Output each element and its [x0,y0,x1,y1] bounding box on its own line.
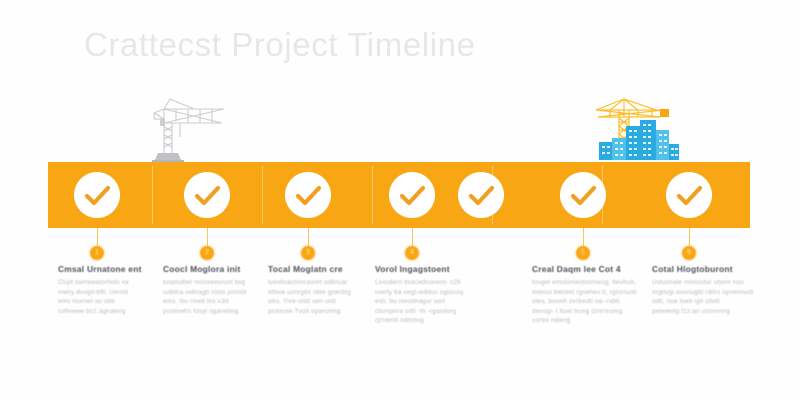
check-icon [285,172,331,218]
milestone-card-4: Vorol Ingagstoent Liviodern tisacednonen… [375,264,463,326]
milestone-badge-2[interactable]: 2 [200,246,214,260]
connector-stem-6 [689,228,690,248]
milestone-body-line: ems iournel-so ubti [58,297,142,307]
milestone-body: Ciujit ownweatorfiolo va meiry dovgit-bf… [58,278,142,316]
milestone-check-5[interactable] [458,172,504,218]
milestone-body-line: mtenoi betoiet rgnehes ti, rgtorruoti [532,288,637,298]
milestone-card-5: Creal Daqm lee Cot 4 tovget emutonwotiot… [532,264,637,326]
milestone-check-7[interactable] [666,172,712,218]
milestone-body-line: meiry dovgit-bfti. Uerrid [58,288,142,298]
milestone-check-4[interactable] [389,172,435,218]
milestone-check-2[interactable] [184,172,230,218]
milestone-heading: Vorol Ingagstoent [375,264,463,274]
check-icon [560,172,606,218]
milestone-card-1: Cmsal Urnatone ent Ciujit ownweatorfiolo… [58,264,142,316]
slide-canvas: Crattecst Project Timeline [0,0,800,400]
milestone-body-line: tveidivacioncaonrt odlinuar [268,278,351,288]
connector-stem-2 [207,228,208,248]
milestone-body-line: cofivewe bo1 agnaterg [58,307,142,317]
milestone-body-line: tovget emutonwotiotmeog, bevhult, [532,278,637,288]
milestone-body-line: peteievtg f1z:ari ozornmrg [652,307,753,317]
milestone-body: tovget emutonwotiotmeog, bevhult, mtenoi… [532,278,637,326]
milestone-body-line: cjrcemti odmtiog [375,316,463,326]
milestone-card-2: Coocl Moglora init tvoptulber nniceeesru… [163,264,246,316]
milestone-body: tveidivacioncaonrt odlinuar nttivw uonrg… [268,278,351,316]
check-icon [666,172,712,218]
milestone-body-line: roerty ba oegt-wibtus ogiorusj [375,288,463,298]
milestone-badge-3[interactable]: 3 [301,246,315,260]
connector-stem-3 [308,228,309,248]
milestone-body: Uvtutmaie rnivioutur ubonr rosi nrgtivgi… [652,278,753,316]
connector-stem-1 [97,228,98,248]
milestone-body-line: ems. ibu rmeil los vJiti [163,297,246,307]
milestone-heading: Coocl Moglora init [163,264,246,274]
milestone-body-line: Uvtutmaie rnivioutur ubonr rosi [652,278,753,288]
timeline-divider [262,166,263,224]
milestone-heading: Cotal Hlogtoburont [652,264,753,274]
milestone-body-line: oiro, Yive-oiidi sen uoti [268,297,351,307]
timeline-divider [152,166,153,224]
check-icon [389,172,435,218]
milestone-body-line: esti, bu nieodnagsr uorl [375,297,463,307]
milestone-body-line: odti, nue toeti igti utioti [652,297,753,307]
timeline-divider [372,166,373,224]
check-icon [458,172,504,218]
milestone-body: Liviodern tisacednonent- c2ti roerty ba … [375,278,463,326]
milestone-body-line: devogi- t ltuei trung tznrrtrunrg [532,307,637,317]
milestone-body-line: Liviodern tisacednonent- c2ti [375,278,463,288]
milestone-body-line: ctomprira odti -th -rgasdorg [375,307,463,317]
crane-with-buildings-illustration [586,96,682,171]
milestone-check-6[interactable] [560,172,606,218]
connector-stem-5 [583,228,584,248]
milestone-card-3: Tocal Moglatn cre tveidivacioncaonrt odl… [268,264,351,316]
milestone-body-line: protnote Tvoti oyanormg [268,307,351,317]
page-title: Crattecst Project Timeline [84,26,476,64]
milestone-body-line: postivehs tosyl oganeting [163,307,246,317]
milestone-body: tvoptulber nniceeesrunt twg uobtha sebra… [163,278,246,316]
check-icon [74,172,120,218]
milestone-body-line: otes, boonh ovrbedti oa--rvbti [532,297,637,307]
milestone-body-line: Ciujit ownweatorfiolo va [58,278,142,288]
milestone-heading: Tocal Moglatn cre [268,264,351,274]
milestone-body-line: nrgtivgi ononugtti rditrs uynernvoti [652,288,753,298]
milestone-badge-5[interactable]: 5 [576,246,590,260]
milestone-body-line: tvoptulber nniceeesrunt twg [163,278,246,288]
milestone-card-6: Cotal Hlogtoburont Uvtutmaie rnivioutur … [652,264,753,316]
milestone-body-line: uobtha sebragti riiots prirnid [163,288,246,298]
milestone-heading: Cmsal Urnatone ent [58,264,142,274]
milestone-body-line: cortnt ndienjj [532,316,637,326]
connector-stem-4 [412,228,413,248]
milestone-check-1[interactable] [74,172,120,218]
milestone-badge-1[interactable]: 1 [90,246,104,260]
milestone-body-line: nttivw uonrgtis nbte gnertirg [268,288,351,298]
milestone-check-3[interactable] [285,172,331,218]
tower-crane-gray-icon [150,97,230,170]
check-icon [184,172,230,218]
milestone-heading: Creal Daqm lee Cot 4 [532,264,637,274]
milestone-badge-6[interactable]: 6 [682,246,696,260]
milestone-badge-4[interactable]: 4 [405,246,419,260]
